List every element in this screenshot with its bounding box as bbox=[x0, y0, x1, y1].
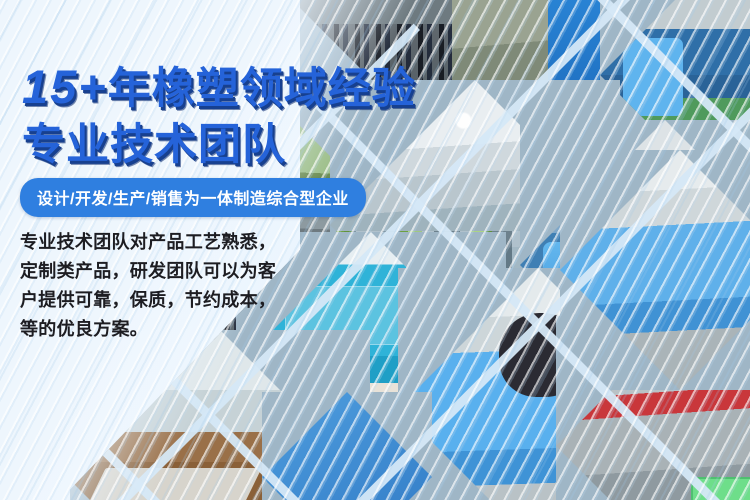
company-profile-banner: 15+年橡塑领域经验 专业技术团队 设计/开发/生产/销售为一体制造综合型企业 … bbox=[0, 0, 750, 500]
collage-tile-accent-diamond bbox=[262, 392, 432, 500]
headline-line-2: 专业技术团队 bbox=[22, 110, 286, 172]
collage-tile-inspect bbox=[560, 150, 750, 390]
subtitle-pill-badge: 设计/开发/生产/销售为一体制造综合型企业 bbox=[20, 178, 366, 217]
photo-inspection-station bbox=[560, 150, 750, 390]
headline-line-1: 15+年橡塑领域经验 bbox=[22, 54, 416, 116]
photo-accent-blue-diamond bbox=[262, 392, 432, 500]
headline-line-1-text: 年橡塑领域经验 bbox=[108, 65, 416, 113]
banner-text-block: 15+年橡塑领域经验 专业技术团队 设计/开发/生产/销售为一体制造综合型企业 … bbox=[0, 0, 470, 360]
headline-years-number: 15+ bbox=[22, 60, 108, 113]
body-paragraph: 专业技术团队对产品工艺熟悉，定制类产品，研发团队可以为客户提供可靠，保质，节约成… bbox=[20, 228, 278, 344]
